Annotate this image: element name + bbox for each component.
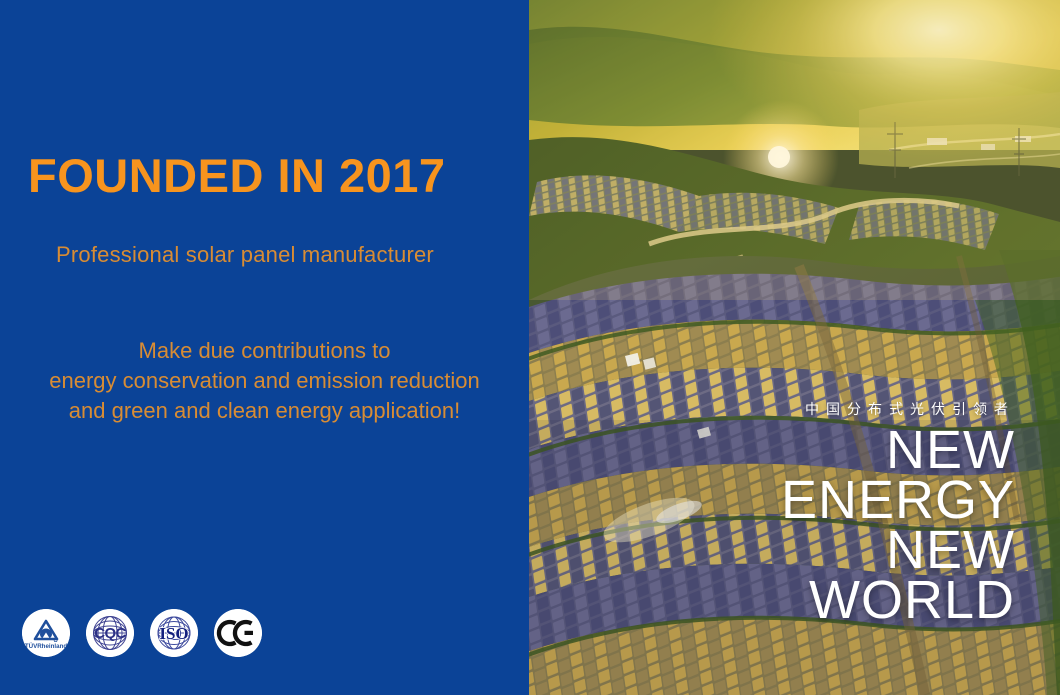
- iso-badge: ISO ISO: [150, 609, 198, 657]
- cqc-icon: CQC: [86, 609, 134, 657]
- mission-line-1: Make due contributions to: [0, 336, 529, 366]
- photo-headline-line-4: WORLD: [781, 575, 1015, 625]
- ce-icon: [214, 609, 262, 657]
- ce-badge: CE: [214, 609, 262, 657]
- info-panel: FOUNDED IN 2017 Professional solar panel…: [0, 0, 529, 695]
- photo-headline-line-1: NEW: [781, 425, 1015, 475]
- tuv-rheinland-badge: TÜVRheinland TÜVRheinland: [22, 609, 70, 657]
- photo-headline: NEW ENERGY NEW WORLD: [781, 425, 1015, 625]
- svg-text:CQC: CQC: [94, 625, 126, 642]
- cqc-badge: CQC CQC: [86, 609, 134, 657]
- tuv-rheinland-icon: TÜVRheinland: [22, 609, 70, 657]
- page-subtitle: Professional solar panel manufacturer: [56, 242, 526, 268]
- svg-text:ISO: ISO: [159, 624, 188, 643]
- mission-statement: Make due contributions to energy conserv…: [0, 336, 529, 426]
- chinese-tagline: 中国分布式光伏引领者: [805, 399, 1015, 419]
- photo-headline-line-2: ENERGY: [781, 475, 1015, 525]
- certification-badges: TÜVRheinland TÜVRheinland CQC: [22, 609, 262, 657]
- mission-line-2: energy conservation and emission reducti…: [0, 366, 529, 396]
- page-title: FOUNDED IN 2017: [28, 148, 528, 203]
- iso-icon: ISO: [150, 609, 198, 657]
- photo-headline-line-3: NEW: [781, 525, 1015, 575]
- svg-text:TÜVRheinland: TÜVRheinland: [25, 643, 68, 650]
- mission-line-3: and green and clean energy application!: [0, 396, 529, 426]
- promo-banner: 中国分布式光伏引领者 NEW ENERGY NEW WORLD FOUNDED …: [0, 0, 1060, 695]
